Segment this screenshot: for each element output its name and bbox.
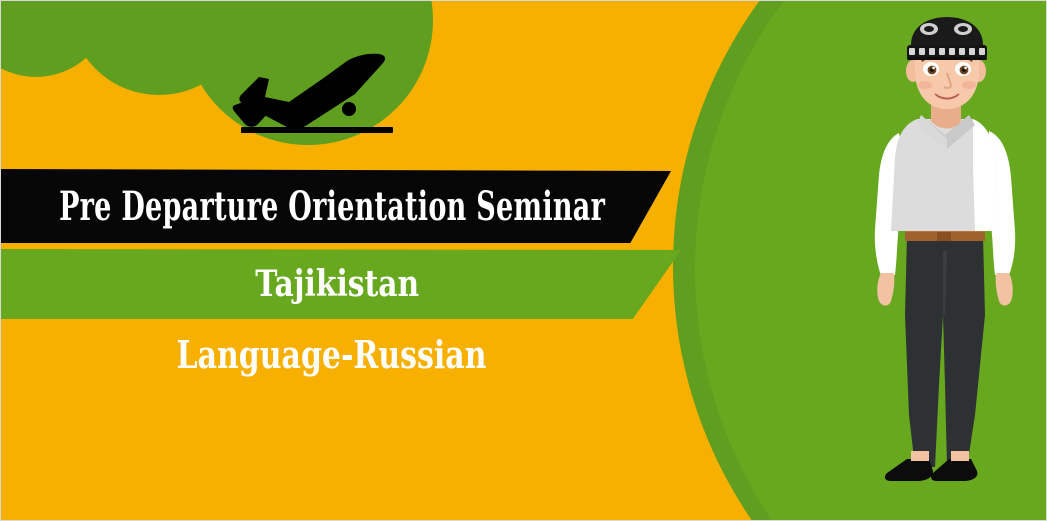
traditional-tajik-cap-icon: [907, 17, 987, 60]
trousers: [905, 235, 985, 467]
poster-canvas: Pre Departure Orientation Seminar Tajiki…: [0, 0, 1047, 521]
title-banner: Pre Departure Orientation Seminar: [0, 169, 671, 243]
country-name-text: Tajikistan: [255, 263, 419, 305]
language-text: Language-Russian: [176, 332, 486, 377]
runway-line: [241, 127, 393, 133]
tajik-man-illustration: [863, 15, 1043, 505]
cheek-left: [918, 81, 932, 89]
cheek-right: [962, 81, 976, 89]
language-banner: Language-Russian: [1, 321, 661, 387]
seminar-title-text: Pre Departure Orientation Seminar: [59, 183, 605, 230]
country-banner: Tajikistan: [0, 249, 681, 319]
